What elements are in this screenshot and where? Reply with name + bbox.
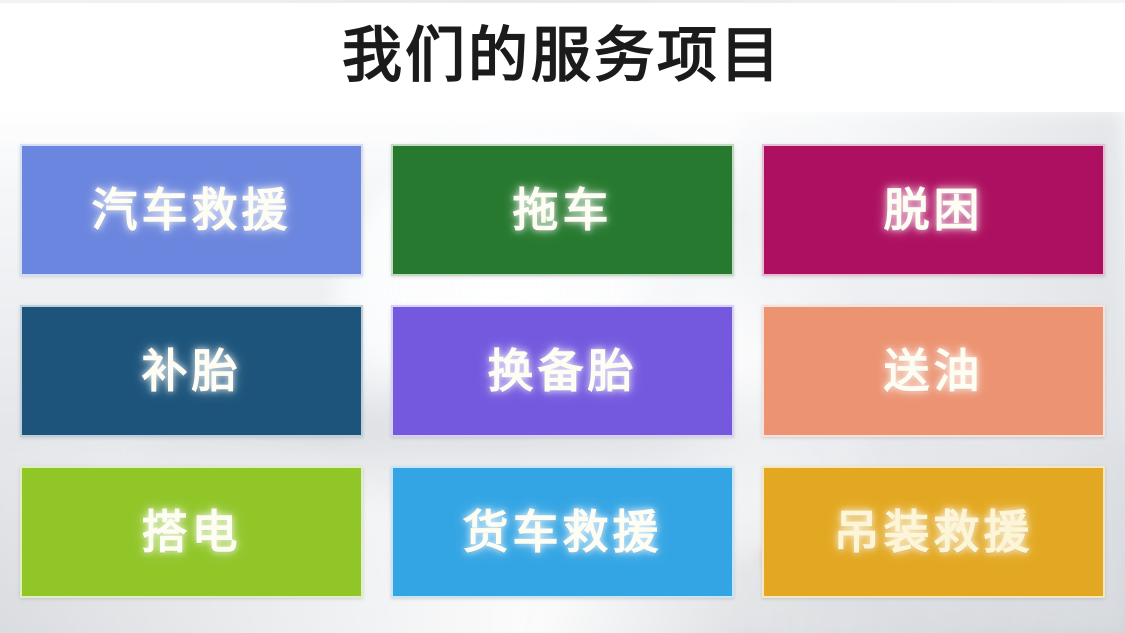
service-tile-grid: 汽车救援 拖车 脱困 补胎 换备胎 送油 搭电 货车救援 吊装救援 <box>20 144 1105 598</box>
poster-header: 我们的服务项目 <box>0 0 1125 112</box>
service-tile-label: 汽车救援 <box>92 185 292 235</box>
service-tile-tire-repair[interactable]: 补胎 <box>20 305 363 437</box>
service-tile-label: 送油 <box>884 346 984 396</box>
service-tile-label: 拖车 <box>513 185 613 235</box>
service-tile-label: 脱困 <box>884 185 984 235</box>
service-tile-label: 补胎 <box>142 346 242 396</box>
service-tile-crane-rescue[interactable]: 吊装救援 <box>762 466 1105 598</box>
service-tile-label: 搭电 <box>142 507 242 557</box>
service-poster: 我们的服务项目 汽车救援 拖车 脱困 补胎 换备胎 送油 搭电 货车救援 吊装救… <box>0 0 1125 633</box>
service-tile-truck-rescue[interactable]: 货车救援 <box>391 466 734 598</box>
service-tile-label: 货车救援 <box>463 507 663 557</box>
header-top-rule <box>0 0 1125 3</box>
service-tile-extrication[interactable]: 脱困 <box>762 144 1105 276</box>
service-tile-label: 换备胎 <box>488 346 638 396</box>
service-tile-roadside-assistance[interactable]: 汽车救援 <box>20 144 363 276</box>
service-tile-jump-start[interactable]: 搭电 <box>20 466 363 598</box>
page-title: 我们的服务项目 <box>0 20 1125 92</box>
service-tile-fuel-delivery[interactable]: 送油 <box>762 305 1105 437</box>
service-tile-towing[interactable]: 拖车 <box>391 144 734 276</box>
service-tile-label: 吊装救援 <box>834 507 1034 557</box>
service-tile-spare-tire-change[interactable]: 换备胎 <box>391 305 734 437</box>
